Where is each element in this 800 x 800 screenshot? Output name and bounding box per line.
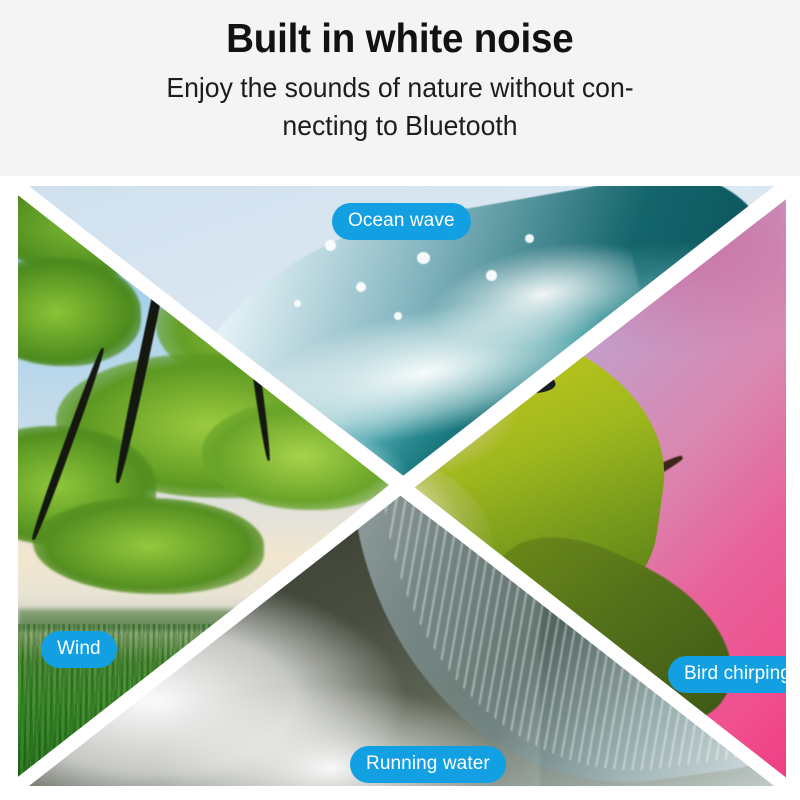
water-spray-droplet (394, 312, 402, 320)
sound-label-wind[interactable]: Wind (41, 631, 117, 668)
water-spray-droplet (417, 252, 429, 264)
sound-label-bird-chirping[interactable]: Bird chirping (668, 656, 786, 693)
subtitle-line-1: Enjoy the sounds of nature without con- (96, 69, 704, 107)
page-subtitle: Enjoy the sounds of nature without con- … (96, 69, 704, 145)
water-spray-droplet (325, 240, 336, 251)
page-title: Built in white noise (226, 14, 573, 62)
water-spray-droplet (525, 234, 534, 243)
subtitle-line-2: necting to Bluetooth (96, 107, 704, 145)
water-spray-droplet (356, 282, 366, 292)
nature-sounds-collage: Wind Ocean wave (18, 186, 786, 786)
water-spray-droplet (486, 270, 497, 281)
sound-label-running-water[interactable]: Running water (350, 746, 506, 783)
product-feature-page: Built in white noise Enjoy the sounds of… (0, 0, 800, 800)
sound-label-ocean-wave[interactable]: Ocean wave (332, 203, 471, 240)
header-section: Built in white noise Enjoy the sounds of… (0, 0, 800, 176)
